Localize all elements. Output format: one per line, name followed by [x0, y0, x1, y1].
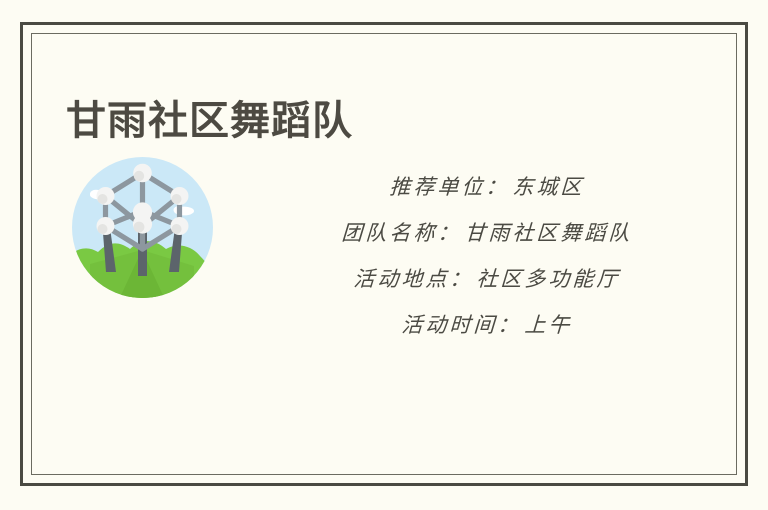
- info-separator: ：: [485, 175, 513, 199]
- info-label-location: 活动地点: [353, 267, 450, 291]
- info-block: 推荐单位：东城区 团队名称：甘雨社区舞蹈队 活动地点：社区多功能厅 活动时间：上…: [232, 164, 742, 348]
- atomium-landmark-icon: [72, 154, 213, 301]
- info-row-time: 活动时间：上午: [231, 302, 743, 348]
- info-separator: ：: [437, 221, 465, 245]
- info-value-team-name: 甘雨社区舞蹈队: [464, 221, 633, 245]
- info-value-location: 社区多功能厅: [476, 267, 621, 291]
- page-title: 甘雨社区舞蹈队: [66, 99, 353, 143]
- certificate-card: 甘雨社区舞蹈队: [20, 22, 748, 486]
- info-row-recommender: 推荐单位：东城区: [231, 164, 743, 210]
- info-separator: ：: [497, 313, 525, 337]
- certificate-inner-border: 甘雨社区舞蹈队: [31, 33, 737, 475]
- info-row-team-name: 团队名称：甘雨社区舞蹈队: [231, 210, 743, 256]
- info-value-recommender: 东城区: [512, 175, 585, 199]
- info-label-recommender: 推荐单位: [389, 175, 486, 199]
- info-value-time: 上午: [524, 313, 573, 337]
- info-separator: ：: [449, 267, 477, 291]
- info-label-team-name: 团队名称: [341, 221, 438, 245]
- info-label-time: 活动时间: [401, 313, 498, 337]
- info-row-location: 活动地点：社区多功能厅: [231, 256, 743, 302]
